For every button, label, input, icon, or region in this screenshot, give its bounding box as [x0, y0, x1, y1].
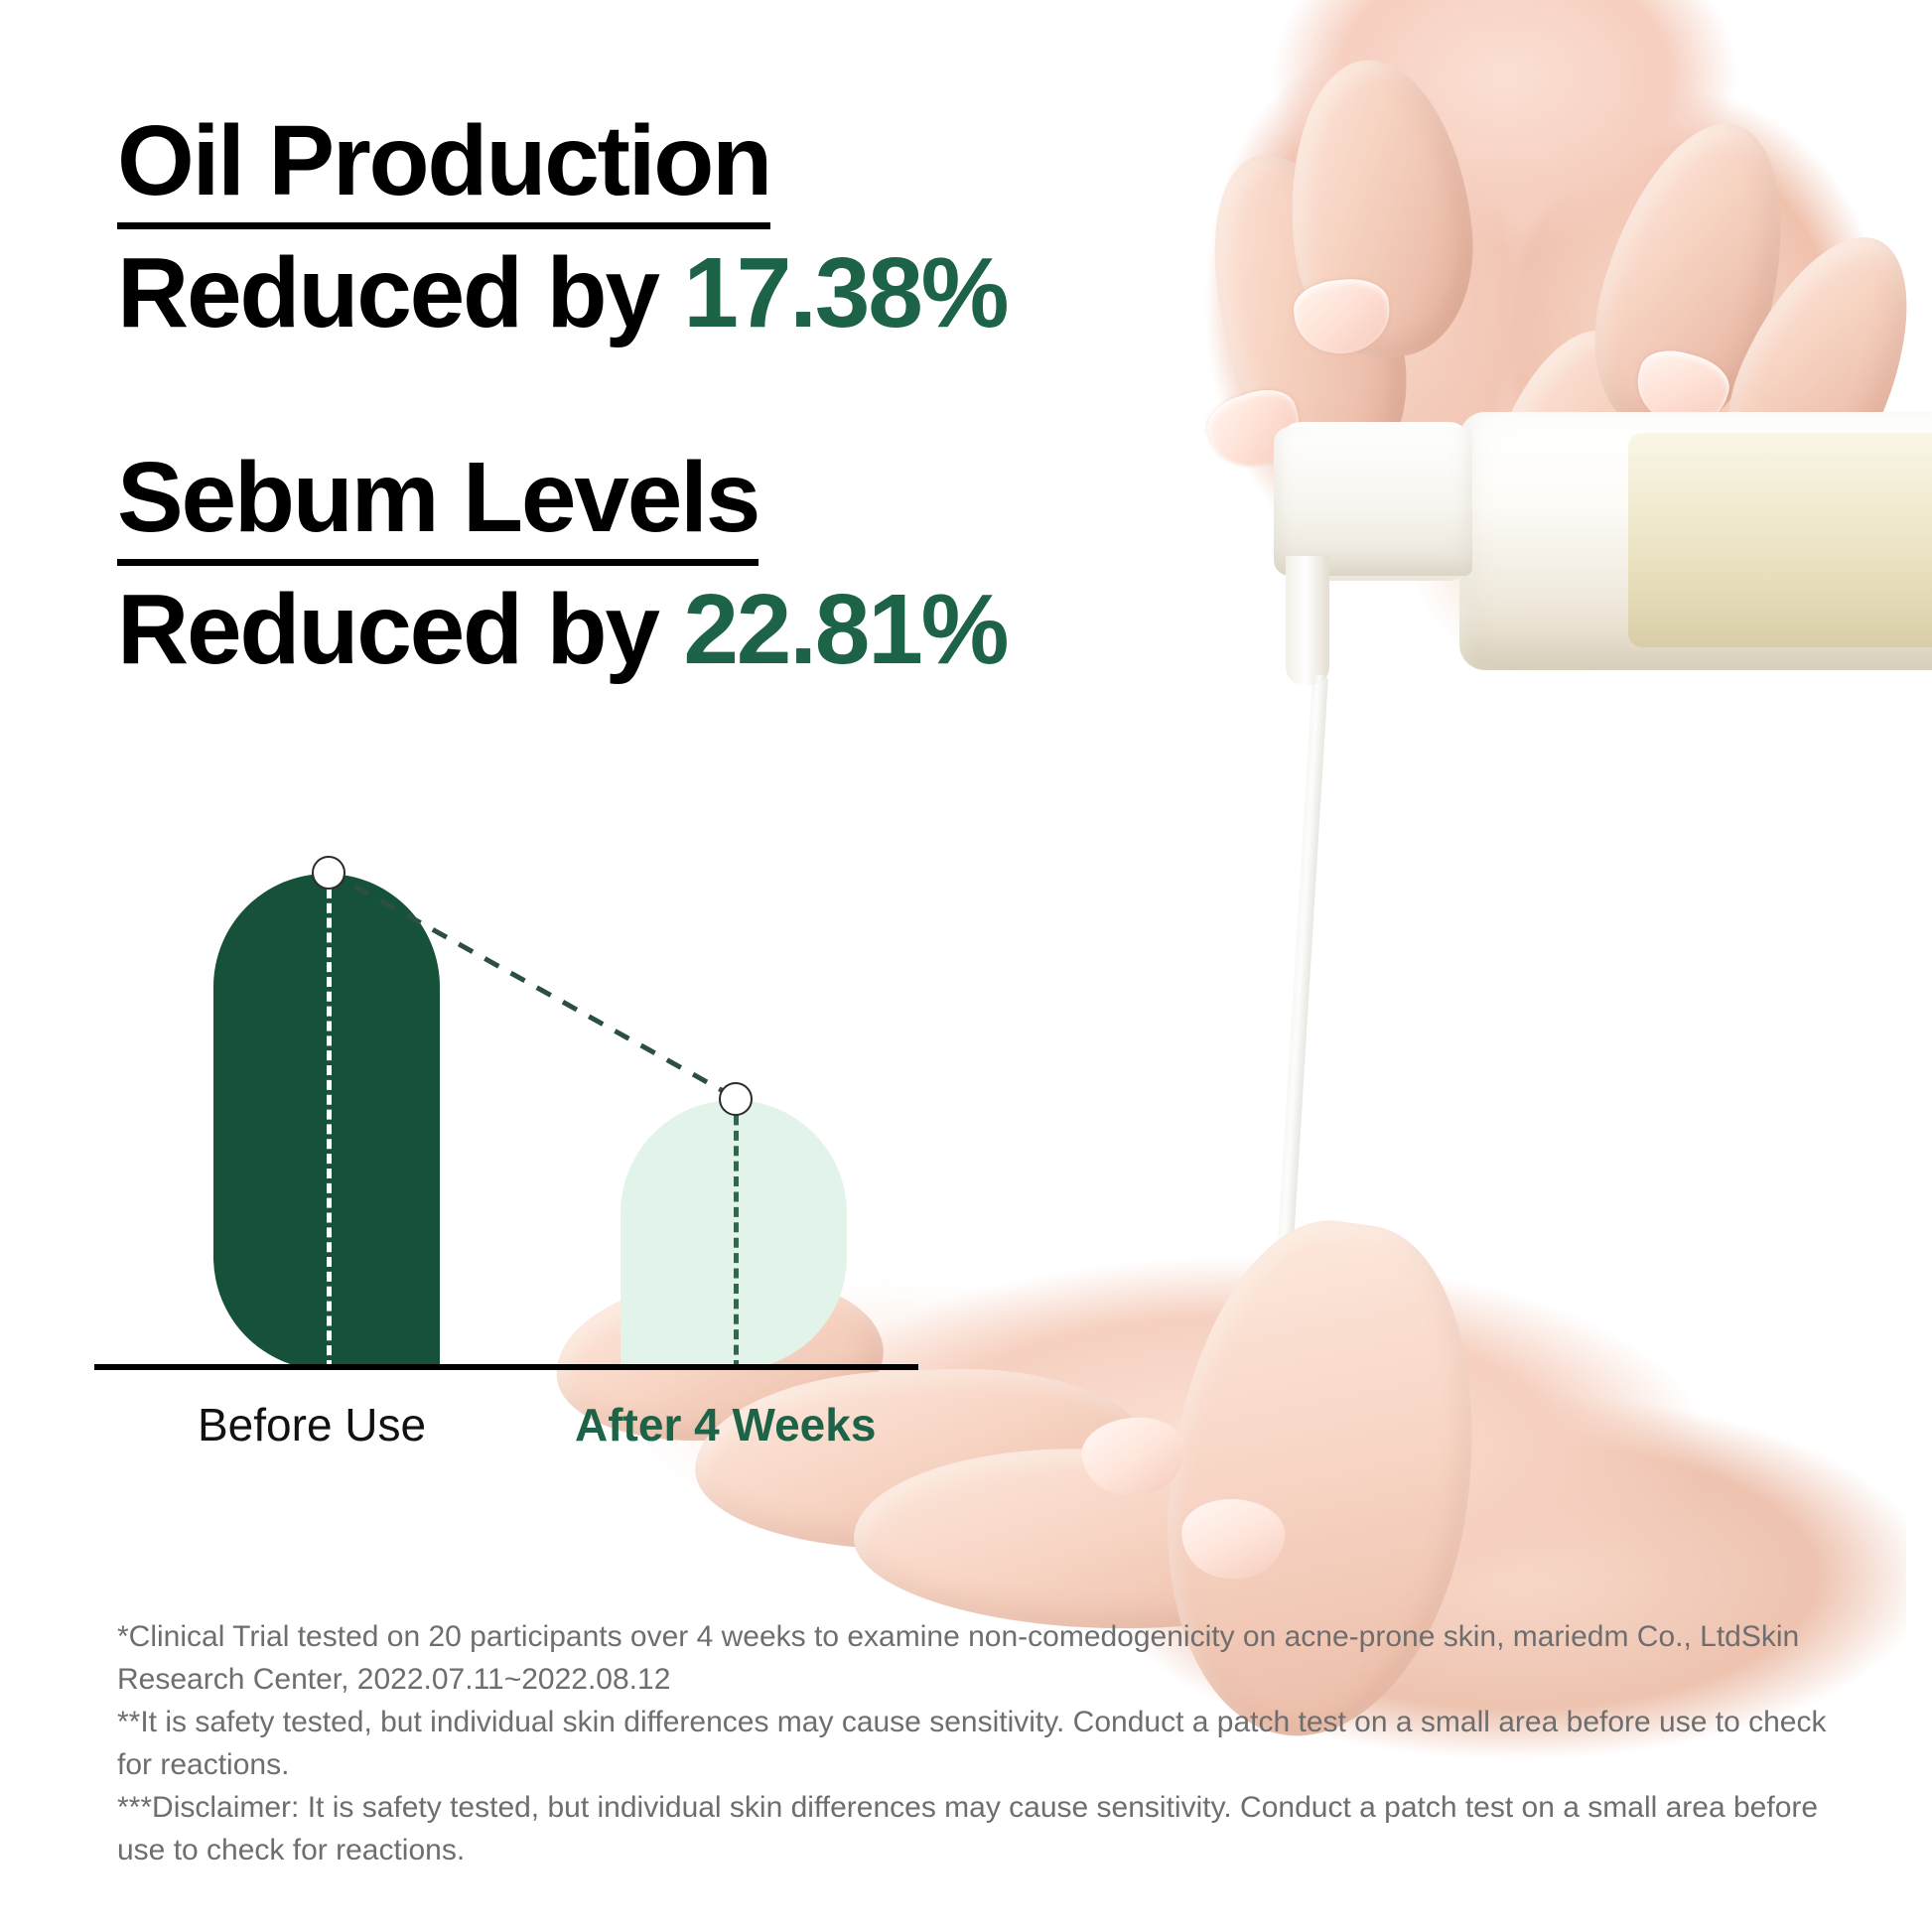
bottle-collar — [1274, 427, 1472, 576]
footnote-disclaimer: ***Disclaimer: It is safety tested, but … — [117, 1786, 1845, 1871]
headline-block: Oil Production Reduced by 17.38% Sebum L… — [117, 103, 1289, 693]
footnotes-block: *Clinical Trial tested on 20 participant… — [117, 1615, 1845, 1871]
chart-label-before-use: Before Use — [198, 1398, 426, 1451]
headline-oil-reduction: Reduced by 17.38% — [117, 229, 1289, 356]
headline-sebum-reduction-prefix: Reduced by — [117, 574, 683, 685]
footnote-clinical-trial: *Clinical Trial tested on 20 participant… — [117, 1615, 1845, 1701]
oil-reduction-percent: 17.38% — [683, 237, 1007, 348]
data-point-marker-before — [312, 856, 345, 890]
bar-center-dashed-line-after — [734, 1100, 739, 1370]
headline-oil-reduction-prefix: Reduced by — [117, 237, 683, 348]
bar-center-dashed-line-before — [327, 874, 332, 1370]
headline-oil-production: Oil Production — [117, 103, 770, 229]
sebum-reduction-bar-chart: Before Use After 4 Weeks — [94, 854, 1047, 1509]
sebum-reduction-percent: 22.81% — [683, 574, 1007, 685]
serum-liquid — [1628, 433, 1932, 647]
headline-sebum-levels: Sebum Levels — [117, 440, 759, 566]
headline-sebum-reduction: Reduced by 22.81% — [117, 566, 1289, 693]
pump-neck — [1286, 556, 1329, 685]
data-point-marker-after — [719, 1082, 753, 1116]
promotional-graphic: Oil Production Reduced by 17.38% Sebum L… — [0, 0, 1932, 1932]
chart-label-after-4-weeks: After 4 Weeks — [575, 1398, 876, 1451]
chart-baseline-axis — [94, 1364, 918, 1370]
footnote-safety-test: **It is safety tested, but individual sk… — [117, 1701, 1845, 1786]
